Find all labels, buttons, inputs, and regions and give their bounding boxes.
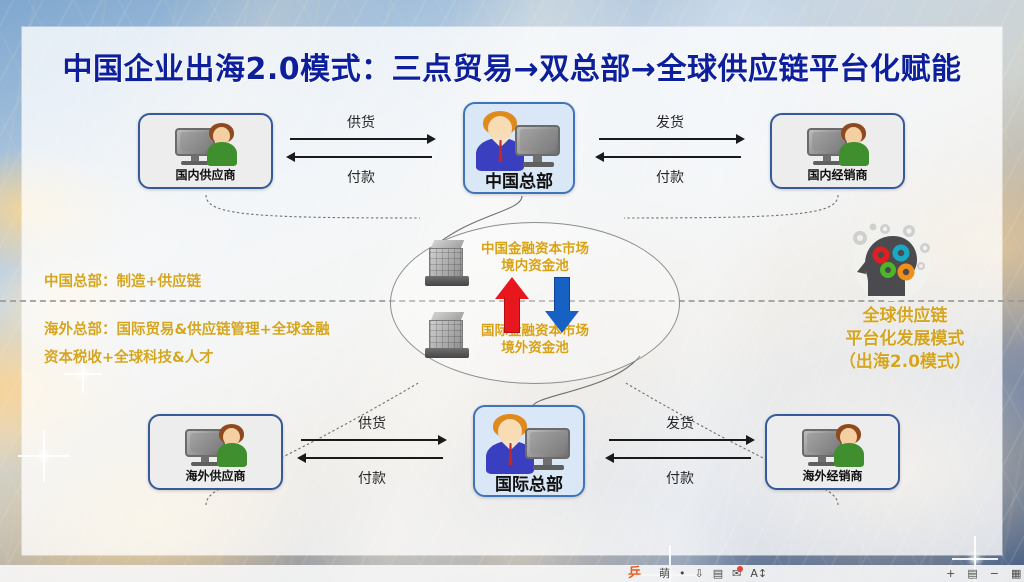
flow-forward-label: 供货 — [286, 112, 436, 132]
mail-icon[interactable]: ✉ — [732, 568, 741, 579]
head-with-gears-icon — [833, 222, 951, 310]
businessman-monitor-icon — [471, 111, 567, 164]
right-block-line1: 全球供应链 — [800, 305, 1010, 328]
note-overseas-hq-scope-line2: 资本税收+全球科技&人才 — [44, 348, 214, 370]
translate-icon[interactable]: 萌 — [659, 568, 670, 579]
flow-forward-label: 供货 — [297, 413, 447, 433]
person-monitor-icon — [179, 421, 253, 469]
right-block-line2: 平台化发展模式 — [800, 328, 1010, 351]
person-monitor-icon — [796, 421, 870, 469]
building-block-icon — [425, 240, 469, 290]
window-icon[interactable]: ▤ — [713, 568, 723, 579]
arrow-right — [605, 433, 755, 447]
offshore-outflow-arrow — [545, 277, 579, 333]
flow-shipment-payment-bottom-right: 发货 付款 — [605, 413, 755, 488]
arrow-left — [297, 451, 447, 465]
flow-backward-label: 付款 — [297, 468, 447, 488]
app-logo-icon[interactable]: 乒 — [628, 567, 641, 580]
flow-supply-payment-bottom-left: 供货 付款 — [297, 413, 447, 488]
dot-icon[interactable]: • — [679, 568, 686, 579]
note-overseas-hq-scope-line1: 海外总部：国际贸易&供应链管理+全球金融 — [44, 320, 330, 342]
node-domestic-supplier[interactable]: 国内供应商 — [138, 113, 273, 189]
flow-forward-label: 发货 — [605, 413, 755, 433]
slide-stage: 中国企业出海2.0模式：三点贸易→双总部→全球供应链平台化赋能 国内供应商 — [0, 0, 1024, 582]
arrow-right — [595, 132, 745, 146]
node-label: 海外供应商 — [185, 467, 245, 484]
node-label: 国内供应商 — [175, 166, 235, 183]
node-china-hq[interactable]: 中国总部 — [463, 102, 575, 194]
toolbar-right-group: + ▤ − ▦ ⛶ — [946, 568, 1024, 579]
flow-backward-label: 付款 — [286, 167, 436, 187]
businessman-monitor-icon — [481, 414, 577, 467]
node-overseas-supplier[interactable]: 海外供应商 — [148, 414, 283, 490]
font-size-icon[interactable]: A↕ — [750, 568, 767, 579]
node-overseas-distributor[interactable]: 海外经销商 — [765, 414, 900, 490]
flow-forward-label: 发货 — [595, 112, 745, 132]
arrow-left — [605, 451, 755, 465]
flow-backward-label: 付款 — [605, 468, 755, 488]
building-block-icon — [425, 312, 469, 362]
flow-backward-label: 付款 — [595, 167, 745, 187]
grid-icon[interactable]: ▦ — [1011, 568, 1021, 579]
minus-icon[interactable]: − — [990, 568, 999, 579]
node-domestic-distributor[interactable]: 国内经销商 — [770, 113, 905, 189]
download-icon[interactable]: ⇩ — [695, 568, 704, 579]
person-monitor-icon — [801, 120, 875, 168]
onshore-inflow-arrow — [495, 277, 529, 333]
node-label: 国内经销商 — [807, 166, 867, 183]
arrow-right — [286, 132, 436, 146]
right-block-line3: （出海2.0模式） — [800, 351, 1010, 374]
arrow-right — [297, 433, 447, 447]
arrow-left — [286, 150, 436, 164]
arrow-left — [595, 150, 745, 164]
flow-supply-payment-top-left: 供货 付款 — [286, 112, 436, 187]
global-supply-chain-block: 全球供应链 平台化发展模式 （出海2.0模式） — [800, 305, 1010, 374]
person-monitor-icon — [169, 120, 243, 168]
flow-shipment-payment-top-right: 发货 付款 — [595, 112, 745, 187]
note-china-hq-scope: 中国总部：制造+供应链 — [44, 272, 201, 294]
node-international-hq[interactable]: 国际总部 — [473, 405, 585, 497]
add-icon[interactable]: + — [946, 568, 955, 579]
page-title: 中国企业出海2.0模式：三点贸易→双总部→全球供应链平台化赋能 — [22, 44, 1002, 88]
node-label: 海外经销商 — [802, 467, 862, 484]
bottom-toolbar[interactable]: 乒 萌 • ⇩ ▤ ✉ A↕ + ▤ − ▦ ⛶ — [0, 565, 1024, 582]
layout-icon[interactable]: ▤ — [967, 568, 977, 579]
